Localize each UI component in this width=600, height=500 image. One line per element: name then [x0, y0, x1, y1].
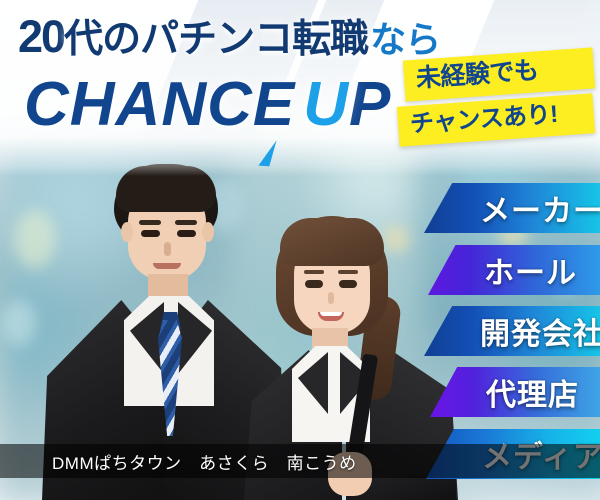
caption-bar: DMMぱちタウン あさくら 南こうめ: [0, 444, 600, 478]
category-button-hall[interactable]: ホール: [428, 245, 600, 295]
category-button-developer[interactable]: 開発会社: [424, 306, 600, 356]
category-button-agency[interactable]: 代理店: [430, 367, 600, 417]
caption-text: DMMぱちタウン あさくら 南こうめ: [52, 449, 357, 474]
category-label: メーカー: [480, 186, 600, 230]
category-label: ホール: [484, 248, 577, 292]
category-label: 代理店: [486, 370, 579, 414]
category-label: 開発会社: [480, 309, 600, 353]
category-list: メーカー ホール 開発会社 代理店 メディア: [0, 0, 600, 500]
category-button-maker[interactable]: メーカー: [424, 183, 600, 233]
promo-banner: 20代のパチンコ転職なら CHANCEUP 未経験でも チャンスあり! メーカー…: [0, 0, 600, 500]
